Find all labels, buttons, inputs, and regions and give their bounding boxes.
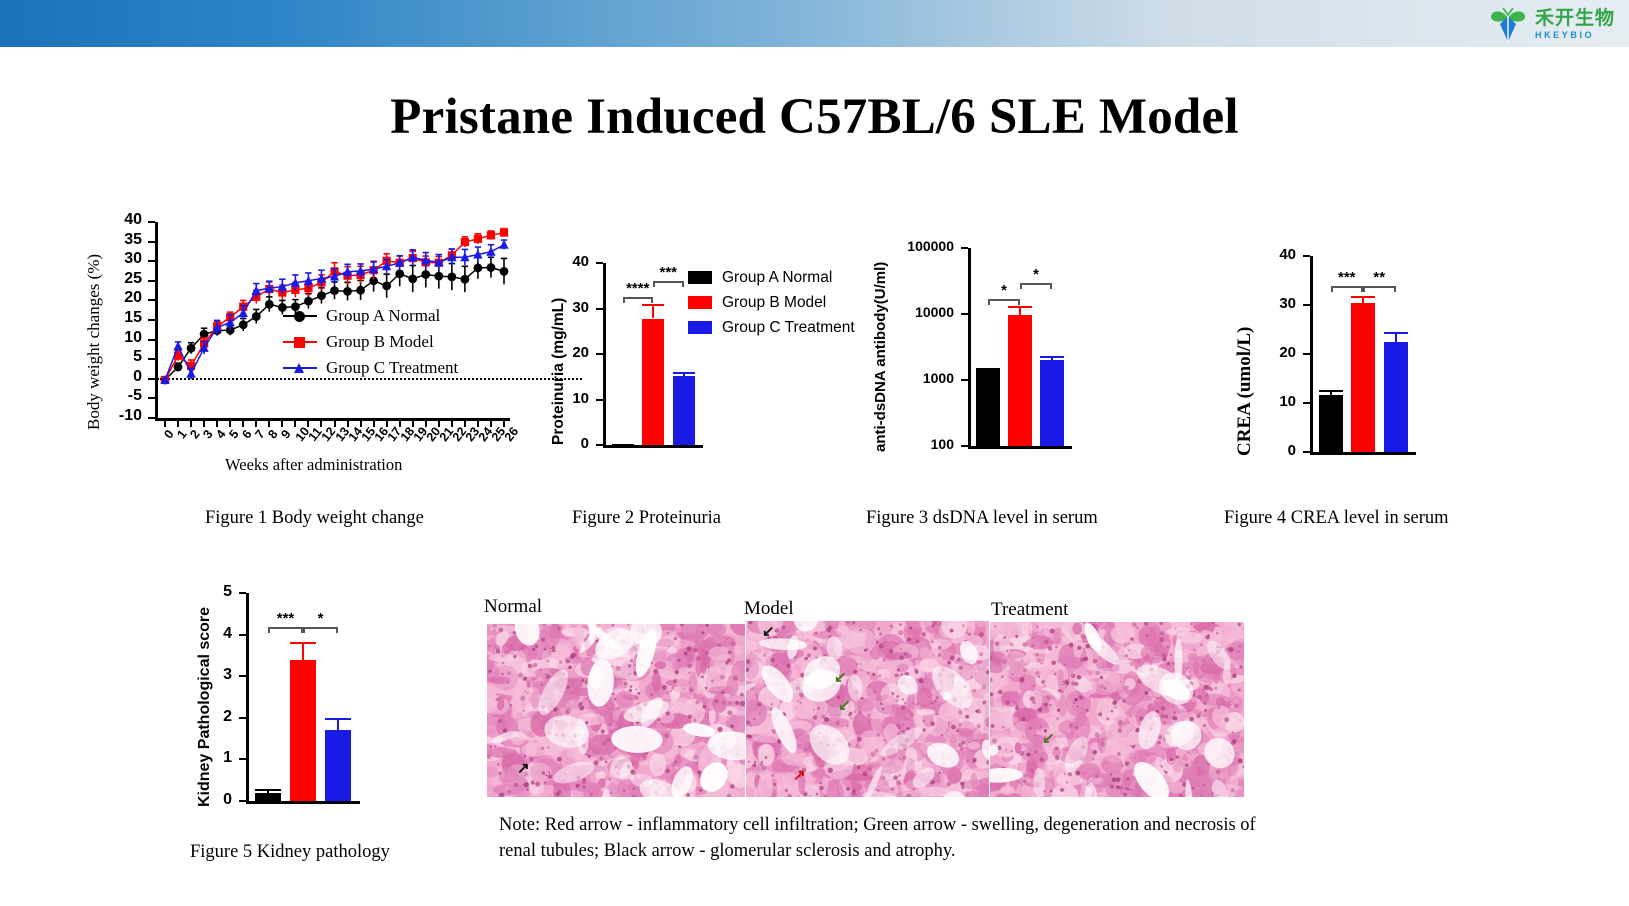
bar [255,793,281,801]
fig4-plot-area: 010203040***** [1310,256,1416,452]
y-axis-tick-label: 5 [72,348,142,366]
x-axis-tick-label: 0 [161,427,176,441]
legend-item: Group A Normal [688,265,855,290]
y-axis-tick-label: 0 [499,435,589,452]
y-axis-tick [239,634,246,636]
y-axis-tick-label: 5 [142,583,232,601]
y-axis-tick [239,717,246,719]
y-axis-tick-label: 15 [72,309,142,327]
bar [642,319,664,445]
y-axis-tick [239,675,246,677]
y-axis-tick [596,262,603,264]
x-axis-tick-label: 5 [227,427,242,441]
x-axis-tick [386,420,388,427]
y-axis-tick-label: 20 [1206,344,1296,361]
x-axis-tick [281,420,283,427]
error-bar [290,642,316,661]
header-underline [0,47,1629,51]
y-axis-tick [148,358,155,360]
significance-stars: *** [1331,269,1364,286]
shared-group-legend: Group A Normal Group B Model Group C Tre… [688,265,855,340]
x-axis-tick [438,420,440,427]
y-axis-tick [596,399,603,401]
histology-texture [746,621,989,797]
page-title: Pristane Induced C57BL/6 SLE Model [0,88,1629,146]
y-axis-tick-label: 20 [72,289,142,307]
error-bar [642,304,664,319]
y-axis-tick-label: 10 [1206,393,1296,410]
annotation-arrow-icon: ↗ [517,762,530,777]
x-axis-tick [320,420,322,427]
legend-item: Group A Normal [283,303,458,329]
significance-stars: * [1020,266,1052,283]
legend-label: Group C Treatment [326,358,458,378]
legend-label: Group A Normal [722,269,832,287]
y-axis-tick-label: 40 [72,211,142,229]
x-axis-tick [412,420,414,427]
annotation-arrow-icon: ↙ [838,699,851,714]
error-bar [673,372,695,377]
y-axis-tick [1303,402,1310,404]
bar [1008,315,1032,446]
bar [976,369,1000,446]
y-axis-tick-label: 30 [1206,295,1296,312]
x-axis-tick-label: 4 [213,427,228,441]
leaf-drop-logo-icon [1488,4,1528,44]
x-axis-tick [477,420,479,427]
bar [290,660,316,801]
series-marker-square-icon [283,336,317,348]
x-axis-line [1310,452,1416,455]
y-axis-tick-label: 4 [142,625,232,643]
error-bar [325,718,351,730]
y-axis-tick [148,221,155,223]
x-axis-tick-label: 1 [174,427,189,441]
figure-1-chart: Body weight changes (%) -10-505101520253… [70,215,530,480]
y-axis-tick [596,308,603,310]
legend-label: Group B Model [326,332,434,352]
x-axis-tick [268,420,270,427]
legend-swatch-red [688,296,712,309]
error-bar [255,789,281,793]
x-axis-tick-label: 7 [253,427,268,441]
y-axis-tick-label: 0 [72,368,142,386]
y-axis-tick [148,339,155,341]
significance-stars: ** [1363,269,1396,286]
histology-label-treatment: Treatment [991,599,1068,621]
legend-label: Group B Model [722,294,826,312]
figure-2-chart: Proteinuria (mg/mL) 010203040******* [540,255,710,455]
bar [1040,360,1064,446]
legend-item: Group B Model [688,290,855,315]
y-axis-tick-label: 0 [1206,442,1296,459]
y-axis-tick-label: 20 [499,344,589,361]
legend-label: Group C Treatment [722,319,855,337]
header-bar [0,0,1629,47]
y-axis-tick-label: 40 [1206,246,1296,263]
y-axis-tick-label: -5 [72,387,142,405]
histology-label-normal: Normal [484,596,542,618]
legend-swatch-black [688,271,712,284]
y-axis-tick-label: 10 [72,329,142,347]
histology-label-model: Model [744,598,794,620]
logo-wordmark: 禾开生物 HKEYBIO [1535,9,1615,40]
y-axis-tick-label: 1000 [864,370,954,386]
y-axis-line [603,263,606,446]
y-axis-tick [1303,451,1310,453]
error-bar [1319,390,1343,394]
legend-swatch-blue [688,321,712,334]
figure-5-chart: Kidney Pathological score 012345**** [186,585,386,810]
bar [1351,303,1375,452]
significance-stars: *** [268,610,303,627]
y-axis-tick [961,313,968,315]
significance-stars: * [303,610,338,627]
y-axis-tick-label: 3 [142,666,232,684]
x-axis-line [968,446,1072,449]
y-axis-tick-label: 0 [142,791,232,809]
error-bar [1008,306,1032,314]
y-axis-tick [148,378,155,380]
error-bar [1384,332,1408,342]
histology-image-treatment: ↙ [990,622,1244,797]
y-axis-tick-label: 30 [499,299,589,316]
x-axis-tick [294,420,296,427]
error-bar [1351,296,1375,303]
y-axis-tick [961,379,968,381]
bar [325,730,351,801]
histology-texture [990,622,1244,797]
figure-4-caption: Figure 4 CREA level in serum [1224,508,1449,529]
significance-stars: * [988,282,1020,299]
company-logo: 禾开生物 HKEYBIO [1488,3,1615,45]
legend-label: Group A Normal [326,306,440,326]
y-axis-tick [961,445,968,447]
y-axis-tick-label: 10 [499,390,589,407]
y-axis-tick [1303,304,1310,306]
x-axis-tick-label: 9 [279,427,294,441]
x-axis-tick [334,420,336,427]
y-axis-tick-label: 35 [72,231,142,249]
error-bar [1040,356,1064,360]
y-axis-tick-label: 10000 [864,304,954,320]
x-axis-line [155,418,510,421]
significance-stars: **** [623,280,654,297]
y-axis-tick-label: 1 [142,749,232,767]
y-axis-tick-label: 40 [499,253,589,270]
y-axis-tick [1303,255,1310,257]
figure-4-chart: CREA (umol/L) 010203040***** [1222,248,1422,460]
fig1-x-axis-label: Weeks after administration [225,455,402,475]
annotation-arrow-icon: ↙ [1042,732,1055,747]
annotation-arrow-icon: ↙ [834,671,847,686]
y-axis-line [246,593,249,802]
y-axis-tick-label: -10 [72,407,142,425]
y-axis-tick [239,800,246,802]
logo-latin-name: HKEYBIO [1535,31,1615,40]
series-marker-circle-icon [283,310,317,322]
y-axis-tick [148,299,155,301]
fig1-legend: Group A Normal Group B Model Group C Tre… [283,303,458,381]
figure-3-chart: anti-dsDNA antibody(U/ml) 10010001000010… [862,240,1082,455]
logo-chinese-name: 禾开生物 [1535,9,1615,28]
bar [1384,342,1408,452]
x-axis-tick [451,420,453,427]
x-axis-tick [399,420,401,427]
figure-5-caption: Figure 5 Kidney pathology [190,842,390,863]
y-axis-tick-label: 100000 [864,238,954,254]
y-axis-tick [148,260,155,262]
legend-item: Group B Model [283,329,458,355]
y-axis-tick [239,758,246,760]
histology-note: Note: Red arrow - inflammatory cell infi… [499,812,1259,864]
x-axis-tick-label: 2 [187,427,202,441]
histology-image-model: ↙↙↙↗ [746,621,989,797]
series-marker-triangle-icon [283,362,317,374]
fig3-y-axis-label: anti-dsDNA antibody(U/ml) [872,262,889,452]
bar [1319,395,1343,452]
x-axis-tick [503,420,505,427]
y-axis-tick [148,397,155,399]
y-axis-tick-label: 100 [864,436,954,452]
y-axis-tick-label: 30 [72,250,142,268]
y-axis-tick [148,417,155,419]
histology-image-normal: ↗ [487,624,745,797]
figure-2-caption: Figure 2 Proteinuria [572,508,721,529]
y-axis-tick [148,241,155,243]
y-axis-tick [596,444,603,446]
fig3-plot-area: 100100010000100000** [968,248,1072,446]
figure-1-caption: Figure 1 Body weight change [205,508,424,529]
x-axis-tick [373,420,375,427]
legend-item: Group C Treatment [688,315,855,340]
x-axis-tick-label: 8 [266,427,281,441]
y-axis-tick [239,592,246,594]
y-axis-line [968,248,971,447]
x-axis-tick [425,420,427,427]
bar [673,376,695,445]
x-axis-tick [360,420,362,427]
x-axis-tick [307,420,309,427]
fig2-y-axis-label: Proteinuria (mg/mL) [550,298,568,445]
legend-item: Group C Treatment [283,355,458,381]
y-axis-tick-label: 2 [142,708,232,726]
figure-3-caption: Figure 3 dsDNA level in serum [866,508,1098,529]
x-axis-tick-label: 3 [200,427,215,441]
significance-stars: *** [653,264,684,281]
y-axis-tick [148,280,155,282]
y-axis-tick [1303,353,1310,355]
y-axis-tick [596,353,603,355]
fig5-plot-area: 012345**** [246,593,360,801]
error-bar [612,444,634,446]
y-axis-line [1310,256,1313,453]
x-axis-line [246,801,360,804]
x-axis-tick-label: 6 [240,427,255,441]
x-axis-tick [347,420,349,427]
x-axis-tick [464,420,466,427]
y-axis-tick-label: 25 [72,270,142,288]
annotation-arrow-icon: ↗ [793,769,806,784]
x-axis-tick [490,420,492,427]
annotation-arrow-icon: ↙ [762,625,775,640]
error-bar [976,368,1000,370]
y-axis-tick [961,247,968,249]
y-axis-tick [148,319,155,321]
